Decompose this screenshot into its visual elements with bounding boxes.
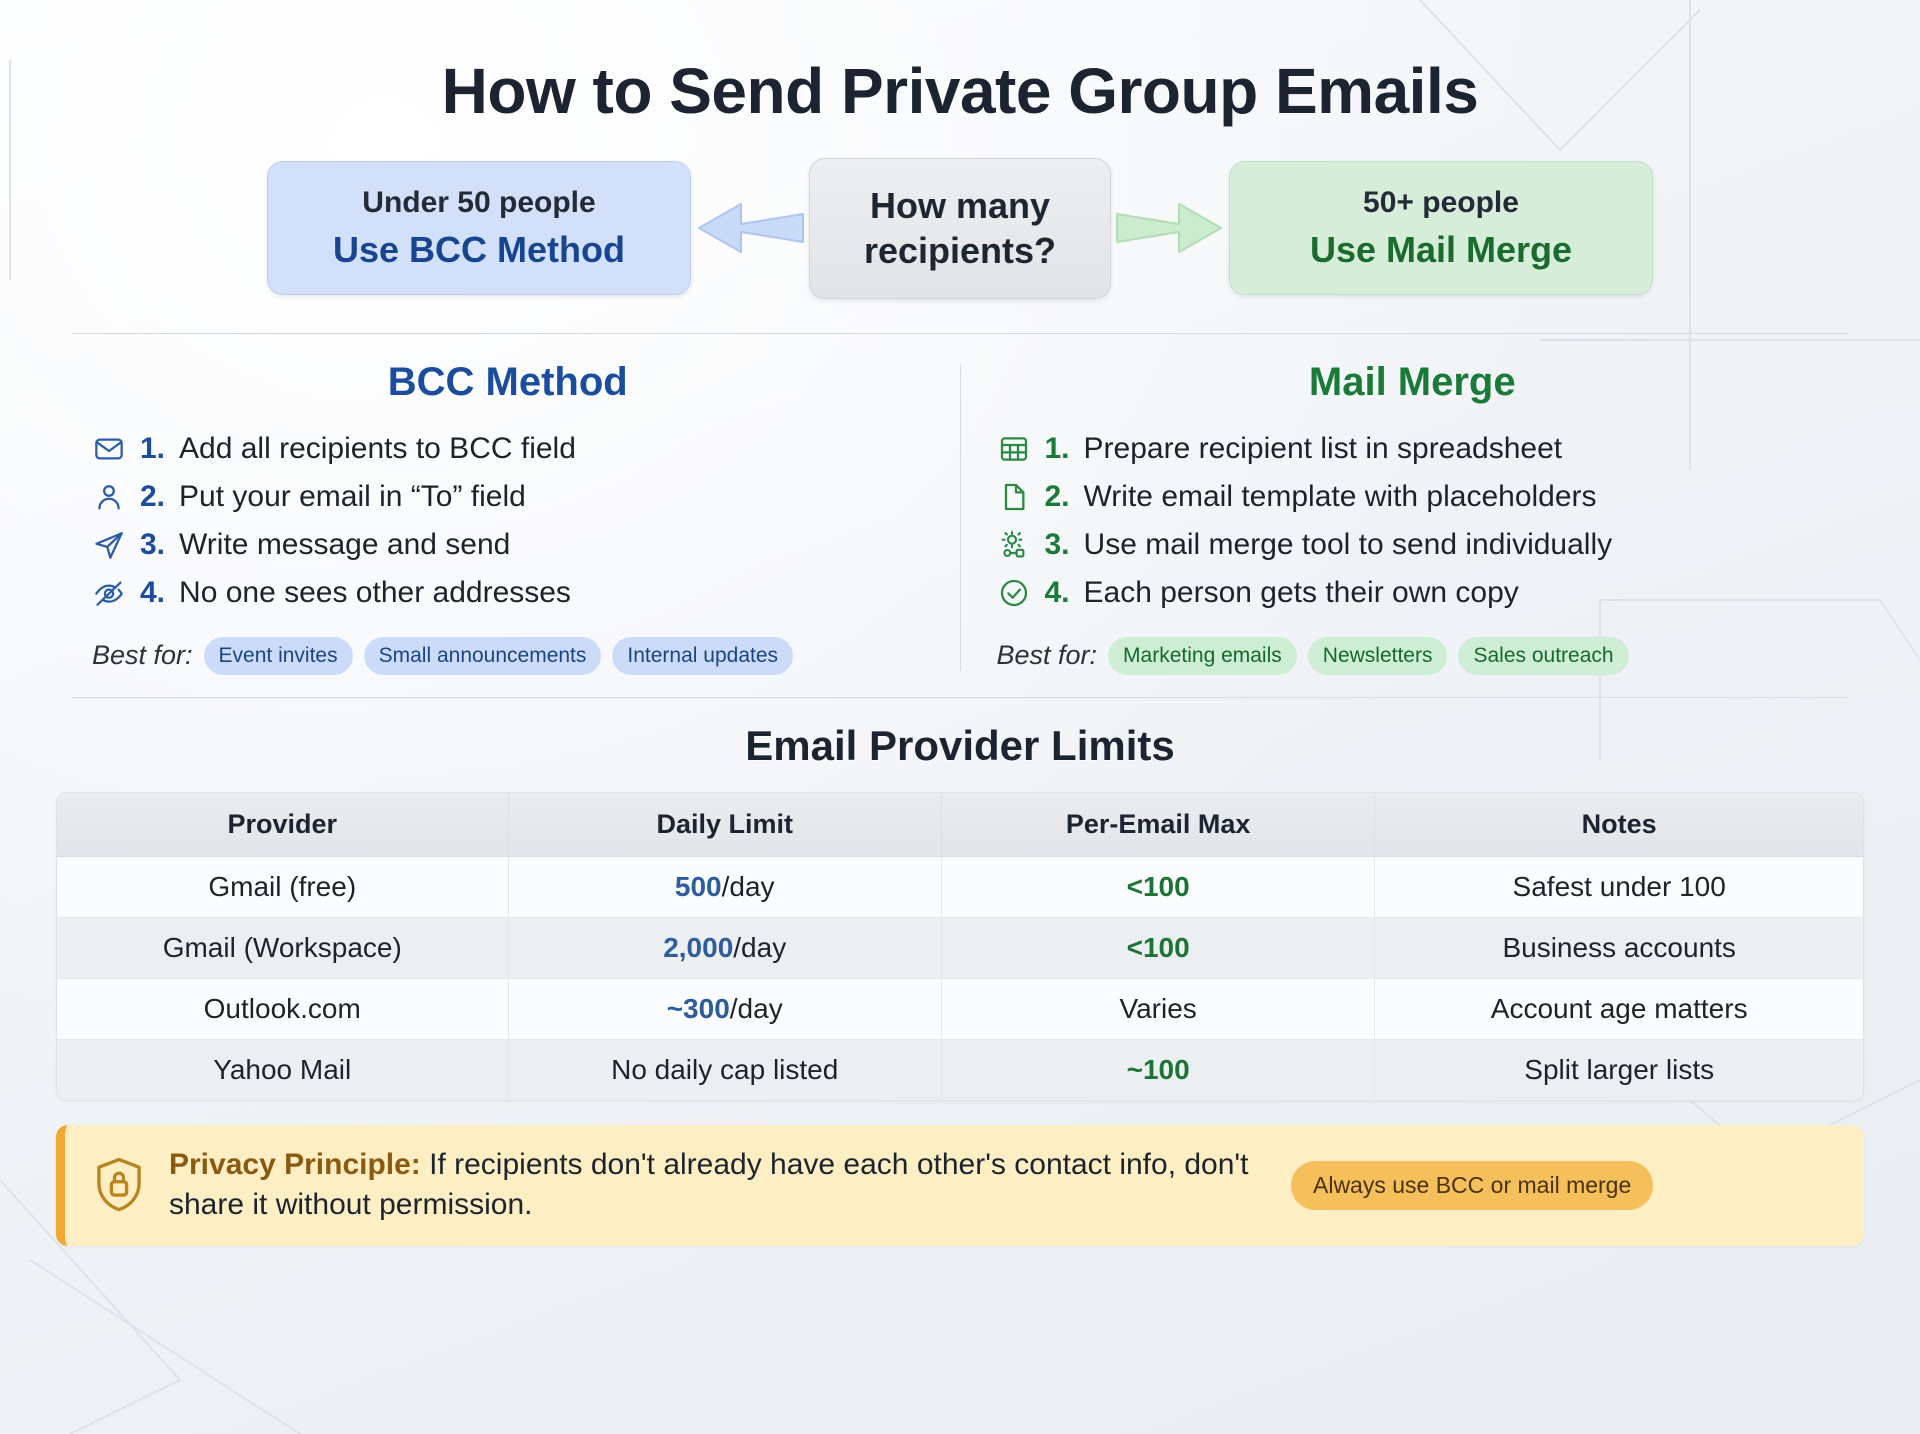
decision-option-mailmerge[interactable]: 50+ people Use Mail Merge xyxy=(1229,161,1653,295)
cell-daily-limit: 2,000/day xyxy=(509,918,942,979)
step-number: 4. xyxy=(140,575,165,611)
method-bcc-steps: 1. Add all recipients to BCC field 2. Pu… xyxy=(92,425,924,617)
decision-option-bcc[interactable]: Under 50 people Use BCC Method xyxy=(267,161,691,295)
arrow-left-icon xyxy=(695,196,805,260)
method-mailmerge-heading: Mail Merge xyxy=(997,360,1829,405)
bestfor-label: Best for: xyxy=(997,640,1098,671)
method-mailmerge-bestfor: Best for: Marketing emails Newsletters S… xyxy=(997,637,1829,675)
methods-section: BCC Method 1. Add all recipients to BCC … xyxy=(56,334,1864,697)
step-text: Add all recipients to BCC field xyxy=(179,431,576,467)
daily-value: No daily cap listed xyxy=(611,1054,838,1085)
cell-per-email: ~100 xyxy=(942,1040,1375,1100)
table-row: Gmail (free) 500/day <100 Safest under 1… xyxy=(57,857,1863,918)
daily-value: 2,000 xyxy=(663,932,733,963)
privacy-principle-lead: Privacy Principle: xyxy=(169,1148,421,1181)
cell-daily-limit: ~300/day xyxy=(509,979,942,1040)
cell-daily-limit: 500/day xyxy=(509,857,942,918)
column-header-per-email: Per-Email Max xyxy=(942,793,1375,857)
list-item: 3. Use mail merge tool to send individua… xyxy=(997,521,1829,569)
decision-option-mailmerge-condition: 50+ people xyxy=(1260,184,1622,222)
document-icon xyxy=(997,480,1031,514)
bestfor-chip[interactable]: Event invites xyxy=(204,637,353,675)
step-text: Put your email in “To” field xyxy=(179,479,526,515)
daily-value: 500 xyxy=(675,871,722,902)
step-number: 3. xyxy=(140,527,165,563)
cell-notes: Split larger lists xyxy=(1375,1040,1863,1100)
list-item: 1. Add all recipients to BCC field xyxy=(92,425,924,473)
daily-value: ~300 xyxy=(667,993,730,1024)
step-text: Use mail merge tool to send individually xyxy=(1084,527,1613,563)
cell-per-email: <100 xyxy=(942,918,1375,979)
bestfor-chip[interactable]: Small announcements xyxy=(364,637,602,675)
list-item: 2. Write email template with placeholder… xyxy=(997,473,1829,521)
cell-per-email: <100 xyxy=(942,857,1375,918)
step-text: Write message and send xyxy=(179,527,510,563)
step-number: 2. xyxy=(1045,479,1070,515)
provider-limits-section: Email Provider Limits Provider Daily Lim… xyxy=(56,698,1864,1101)
spreadsheet-icon xyxy=(997,432,1031,466)
arrow-right-icon xyxy=(1115,196,1225,260)
step-text: Write email template with placeholders xyxy=(1084,479,1597,515)
check-circle-icon xyxy=(997,576,1031,610)
bestfor-chip[interactable]: Sales outreach xyxy=(1458,637,1628,675)
provider-limits-table: Provider Daily Limit Per-Email Max Notes… xyxy=(56,792,1864,1101)
list-item: 4. Each person gets their own copy xyxy=(997,569,1829,617)
decision-option-bcc-action: Use BCC Method xyxy=(298,227,660,272)
step-text: Each person gets their own copy xyxy=(1084,575,1519,611)
send-icon xyxy=(92,528,126,562)
step-number: 4. xyxy=(1045,575,1070,611)
step-text: No one sees other addresses xyxy=(179,575,571,611)
method-mailmerge-steps: 1. Prepare recipient list in spreadsheet… xyxy=(997,425,1829,617)
bestfor-chip[interactable]: Internal updates xyxy=(612,637,793,675)
decision-flow: Under 50 people Use BCC Method How many … xyxy=(56,158,1864,299)
bestfor-chip[interactable]: Newsletters xyxy=(1308,637,1448,675)
per-email-value: Varies xyxy=(1120,993,1197,1024)
cell-daily-limit: No daily cap listed xyxy=(509,1040,942,1100)
decision-question: How many recipients? xyxy=(809,158,1111,299)
step-text: Prepare recipient list in spreadsheet xyxy=(1084,431,1563,467)
method-bcc-bestfor: Best for: Event invites Small announceme… xyxy=(92,637,924,675)
decision-question-line2: recipients? xyxy=(828,228,1092,273)
per-email-value: ~100 xyxy=(1127,1054,1190,1085)
column-header-daily: Daily Limit xyxy=(509,793,942,857)
table-title: Email Provider Limits xyxy=(56,722,1864,770)
decision-option-bcc-condition: Under 50 people xyxy=(298,184,660,222)
list-item: 4. No one sees other addresses xyxy=(92,569,924,617)
cell-notes: Safest under 100 xyxy=(1375,857,1863,918)
shield-lock-icon xyxy=(91,1156,147,1214)
cell-provider: Gmail (free) xyxy=(57,857,509,918)
step-number: 1. xyxy=(140,431,165,467)
arrow-right-wrap xyxy=(1111,196,1229,260)
decision-question-line1: How many xyxy=(828,183,1092,228)
eye-off-icon xyxy=(92,576,126,610)
method-column-mailmerge: Mail Merge 1. Prepare recipient list in … xyxy=(961,360,1865,675)
list-item: 2. Put your email in “To” field xyxy=(92,473,924,521)
step-number: 2. xyxy=(140,479,165,515)
column-header-provider: Provider xyxy=(57,793,509,857)
cell-per-email: Varies xyxy=(942,979,1375,1040)
page-title: How to Send Private Group Emails xyxy=(56,54,1864,128)
daily-suffix: /day xyxy=(722,871,775,902)
cell-notes: Business accounts xyxy=(1375,918,1863,979)
cell-notes: Account age matters xyxy=(1375,979,1863,1040)
table-row: Outlook.com ~300/day Varies Account age … xyxy=(57,979,1863,1040)
arrow-left-wrap xyxy=(691,196,809,260)
list-item: 3. Write message and send xyxy=(92,521,924,569)
step-number: 1. xyxy=(1045,431,1070,467)
daily-suffix: /day xyxy=(730,993,783,1024)
privacy-principle-text: Privacy Principle: If recipients don't a… xyxy=(169,1145,1269,1226)
step-number: 3. xyxy=(1045,527,1070,563)
per-email-value: <100 xyxy=(1127,871,1190,902)
bestfor-chip[interactable]: Marketing emails xyxy=(1108,637,1297,675)
table-header-row: Provider Daily Limit Per-Email Max Notes xyxy=(57,793,1863,857)
column-header-notes: Notes xyxy=(1375,793,1863,857)
privacy-principle-banner: Privacy Principle: If recipients don't a… xyxy=(56,1125,1864,1246)
table-row: Yahoo Mail No daily cap listed ~100 Spli… xyxy=(57,1040,1863,1100)
bestfor-label: Best for: xyxy=(92,640,193,671)
table-row: Gmail (Workspace) 2,000/day <100 Busines… xyxy=(57,918,1863,979)
decision-option-mailmerge-action: Use Mail Merge xyxy=(1260,227,1622,272)
envelope-icon xyxy=(92,432,126,466)
method-column-bcc: BCC Method 1. Add all recipients to BCC … xyxy=(56,360,960,675)
per-email-value: <100 xyxy=(1127,932,1190,963)
infographic-root: How to Send Private Group Emails Under 5… xyxy=(0,0,1920,1434)
cell-provider: Gmail (Workspace) xyxy=(57,918,509,979)
status-badge[interactable]: Always use BCC or mail merge xyxy=(1291,1161,1653,1210)
daily-suffix: /day xyxy=(733,932,786,963)
cell-provider: Yahoo Mail xyxy=(57,1040,509,1100)
settings-cog-icon xyxy=(997,528,1031,562)
cell-provider: Outlook.com xyxy=(57,979,509,1040)
method-bcc-heading: BCC Method xyxy=(92,360,924,405)
list-item: 1. Prepare recipient list in spreadsheet xyxy=(997,425,1829,473)
person-icon xyxy=(92,480,126,514)
